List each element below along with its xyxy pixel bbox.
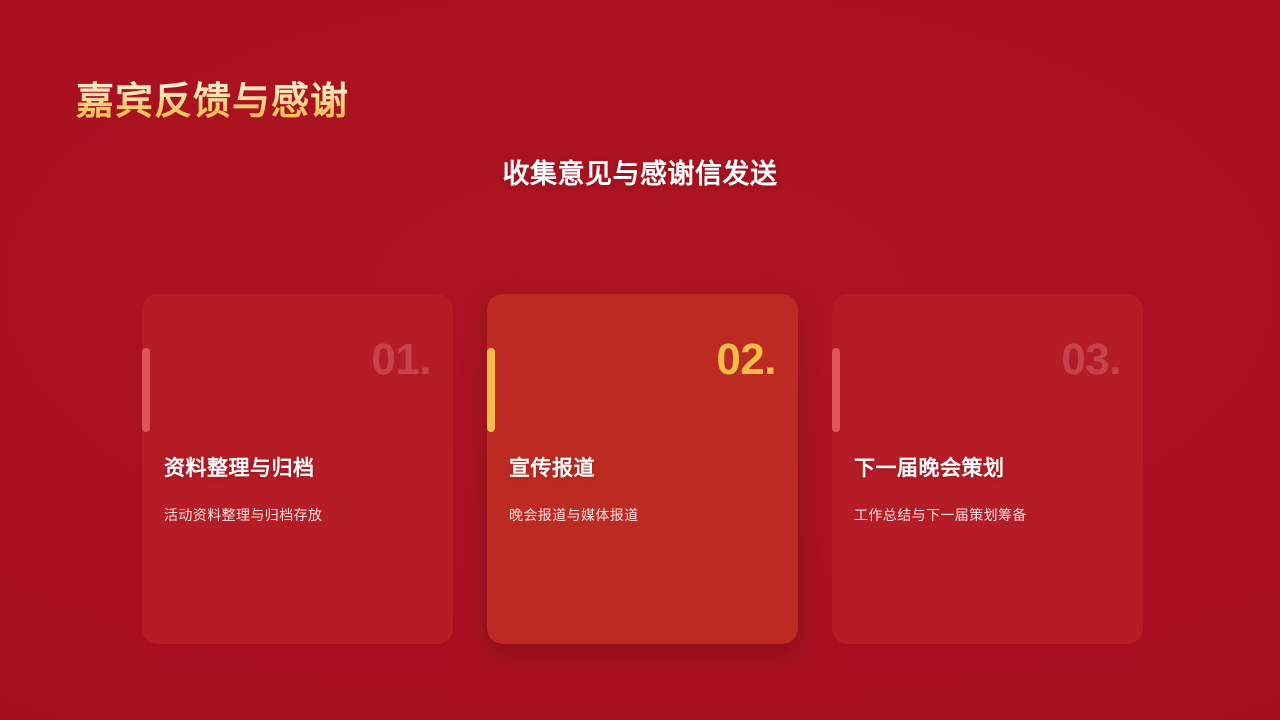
accent-bar-icon bbox=[142, 348, 150, 432]
card-number: 02. bbox=[716, 338, 776, 382]
card-title: 资料整理与归档 bbox=[164, 452, 315, 482]
card-description: 晚会报道与媒体报道 bbox=[509, 505, 639, 526]
card-description: 活动资料整理与归档存放 bbox=[164, 505, 322, 526]
content-card-3[interactable]: 03. 下一届晚会策划 工作总结与下一届策划筹备 bbox=[832, 294, 1143, 644]
card-title: 宣传报道 bbox=[509, 452, 595, 482]
card-number: 01. bbox=[371, 338, 431, 382]
slide-subtitle: 收集意见与感谢信发送 bbox=[0, 152, 1280, 191]
page-title: 嘉宾反馈与感谢 bbox=[76, 79, 349, 127]
accent-bar-icon bbox=[832, 348, 840, 432]
card-number: 03. bbox=[1061, 338, 1121, 382]
card-description: 工作总结与下一届策划筹备 bbox=[854, 505, 1027, 526]
accent-bar-icon bbox=[487, 348, 495, 432]
presentation-slide: 嘉宾反馈与感谢 收集意见与感谢信发送 01. 资料整理与归档 活动资料整理与归档… bbox=[0, 0, 1280, 720]
cards-row: 01. 资料整理与归档 活动资料整理与归档存放 02. 宣传报道 晚会报道与媒体… bbox=[142, 294, 1142, 644]
content-card-1[interactable]: 01. 资料整理与归档 活动资料整理与归档存放 bbox=[142, 294, 453, 644]
content-card-2[interactable]: 02. 宣传报道 晚会报道与媒体报道 bbox=[487, 294, 798, 644]
card-title: 下一届晚会策划 bbox=[854, 452, 1005, 482]
